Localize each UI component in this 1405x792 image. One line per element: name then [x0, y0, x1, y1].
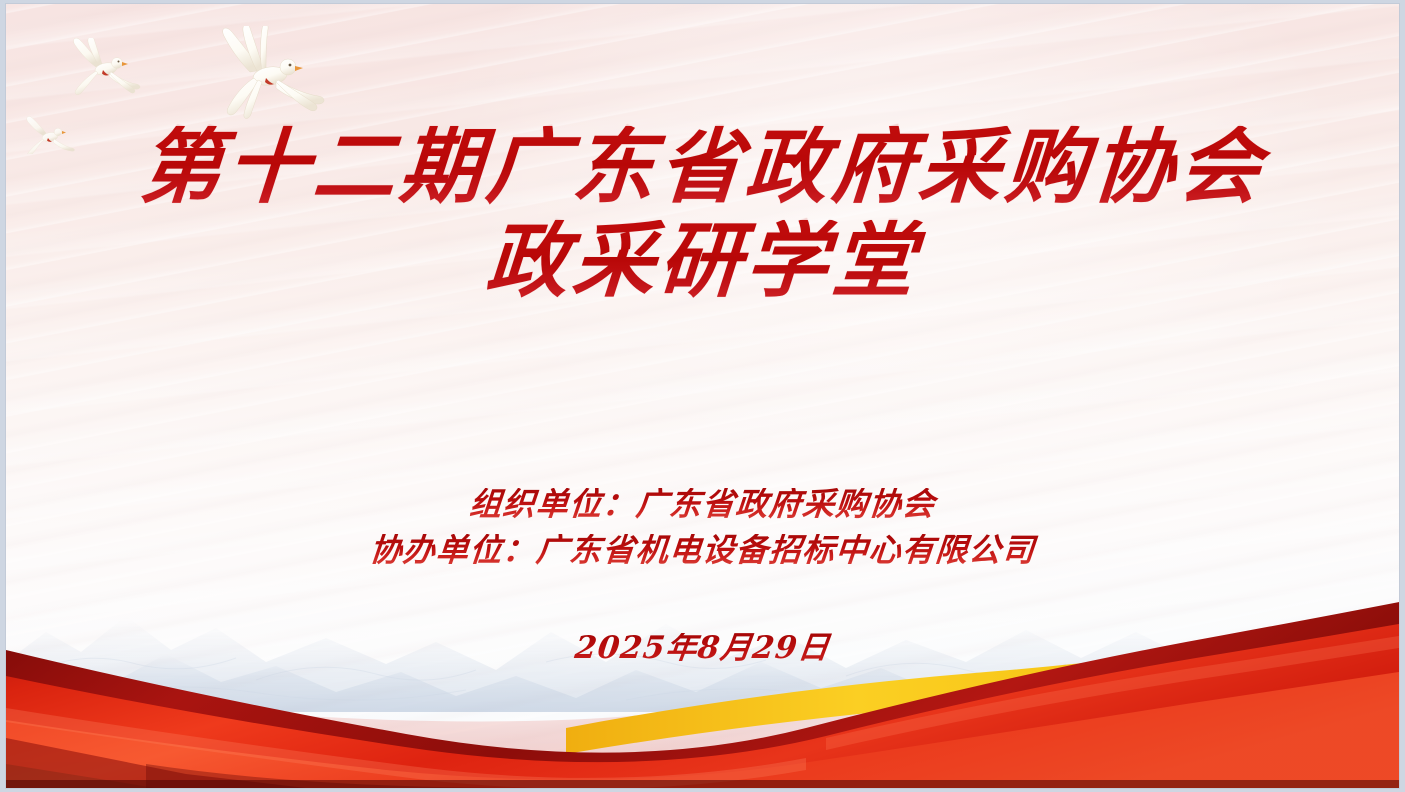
co-organizer-line: 协办单位：广东省机电设备招标中心有限公司	[6, 534, 1399, 566]
title-line-1: 第十二期广东省政府采购协会	[6, 126, 1399, 208]
organizer-line: 组织单位：广东省政府采购协会	[6, 488, 1399, 520]
date-line: 2025年8月29日	[6, 633, 1399, 664]
slide-frame: 第十二期广东省政府采购协会 政采研学堂 组织单位：广东省政府采购协会 协办单位：…	[6, 4, 1399, 788]
title-line-2: 政采研学堂	[6, 220, 1399, 302]
title-block: 第十二期广东省政府采购协会 政采研学堂	[6, 126, 1399, 302]
slide-stage: 第十二期广东省政府采购协会 政采研学堂 组织单位：广东省政府采购协会 协办单位：…	[0, 0, 1405, 792]
organizer-block: 组织单位：广东省政府采购协会 协办单位：广东省机电设备招标中心有限公司	[6, 488, 1399, 566]
slide-content: 第十二期广东省政府采购协会 政采研学堂 组织单位：广东省政府采购协会 协办单位：…	[6, 4, 1399, 788]
